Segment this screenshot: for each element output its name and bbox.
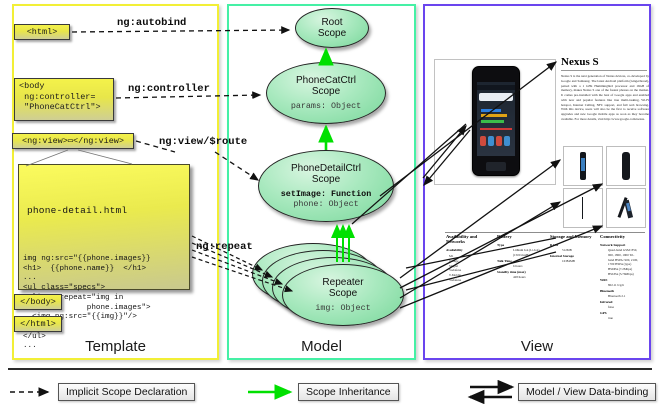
specs-header-availability: Availability and Networks — [446, 234, 486, 244]
legend-label-inheritance: Scope Inheritance — [298, 383, 399, 401]
column-label-model: Model — [229, 338, 414, 355]
thumbnail-1[interactable] — [563, 146, 603, 186]
specs-values-network: Quad-band GSM: 850,900, 1800, 1900 Tri-b… — [608, 248, 638, 277]
view-body-text: Nexus S is the next generation of Nexus … — [561, 74, 649, 132]
specs-top-rule — [445, 232, 645, 233]
connector-label-controller: ng:controller — [128, 83, 210, 95]
legend: Implicit Scope Declaration Scope Inherit… — [0, 366, 660, 420]
specs-values-storage-ram: 512MB — [562, 248, 572, 252]
specs-label-network: Network Support — [600, 243, 625, 247]
scope-root: Root Scope — [295, 8, 369, 48]
specs-values-battery-type: Lithium Ion (Li-Ion)(1500 mAH) — [513, 248, 539, 258]
connector-label-view-route: ng:view/$route — [159, 136, 247, 148]
specs-values-infrared: false — [608, 305, 614, 309]
specs-label-bluetooth: Bluetooth — [600, 289, 614, 293]
view-title-rule — [561, 70, 647, 71]
specs-label-battery-standby: Standby time (max) — [497, 270, 526, 274]
scope-root-name-line1: Root — [321, 17, 342, 28]
connector-label-repeat: ng:repeat — [196, 241, 253, 253]
scope-phonedetailctrl-prop-setimage: setImage: Function — [281, 189, 371, 199]
legend-label-implicit: Implicit Scope Declaration — [58, 383, 195, 401]
thumbnail-3[interactable] — [563, 188, 603, 228]
specs-header-storage: Storage and Memory — [550, 234, 592, 239]
scope-repeater: Repeater Scope img: Object — [282, 264, 404, 326]
scope-repeater-prop-img: img: Object — [315, 303, 370, 313]
view-page-title: Nexus S — [561, 56, 599, 68]
specs-label-storage-internal: Internal Storage — [550, 254, 574, 258]
tag-body-open: <body ng:controller= "PhoneCatCtrl"> — [14, 78, 114, 121]
thumbnail-2[interactable] — [606, 146, 646, 186]
legend-label-databinding: Model / View Data-binding — [518, 383, 656, 401]
specs-values-battery-talktime: 6 hours — [513, 264, 522, 268]
phone-hero-image — [472, 66, 520, 176]
scope-phonecatctrl-prop-params: params: Object — [291, 101, 361, 111]
phone-screen — [477, 82, 516, 155]
scope-repeater-name-line2: Scope — [329, 288, 357, 299]
tag-html-open: <html> — [14, 24, 70, 40]
scope-phonedetailctrl-prop-phone: phone: Object — [293, 199, 358, 209]
specs-label-gps: GPS — [600, 311, 607, 315]
specs-values-wifi: 802.11 b/g/n — [608, 283, 624, 287]
scope-repeater-name-line1: Repeater — [322, 277, 363, 288]
specs-label-battery-talktime: Talk Time — [497, 259, 512, 263]
specs-values-storage-internal: 16384MB — [562, 259, 575, 263]
specs-values-availability: M1OrangeSingtelVodafoneT-MobileVodafone — [449, 254, 461, 283]
specs-values-bluetooth: Bluetooth 2.1 — [608, 294, 625, 298]
specs-label-battery-type: Type — [497, 243, 504, 247]
specs-header-battery: Battery — [497, 234, 512, 239]
column-label-view: View — [425, 338, 649, 355]
diagram-canvas: Template Model View <html> <body ng:cont… — [0, 0, 660, 420]
connector-label-autobind: ng:autobind — [117, 17, 186, 29]
tag-ngview: <ng:view>▭</ng:view> — [12, 133, 134, 149]
specs-label-infrared: Infrared — [600, 300, 612, 304]
note-phone-detail-html: phone-detail.html img ng:src="{{phone.im… — [18, 164, 190, 290]
scope-phonedetailctrl-name-line1: PhoneDetailCtrl — [291, 163, 361, 174]
tag-body-close: </body> — [14, 294, 62, 310]
scope-phonedetailctrl-name-line2: Scope — [312, 174, 340, 185]
specs-values-battery-standby: 428 hours — [513, 275, 526, 279]
scope-phonedetailctrl: PhoneDetailCtrl Scope setImage: Function… — [258, 150, 394, 222]
specs-values-gps: true — [608, 316, 613, 320]
scope-phonecatctrl: PhoneCatCtrl Scope params: Object — [266, 62, 386, 124]
note-title: phone-detail.html — [19, 201, 189, 219]
specs-header-connectivity: Connectivity — [600, 234, 625, 239]
scope-phonecatctrl-name-line1: PhoneCatCtrl — [296, 75, 356, 86]
tag-html-close: </html> — [14, 316, 62, 332]
thumbnail-4[interactable] — [606, 188, 646, 228]
specs-label-availability: Availability — [446, 248, 463, 252]
specs-label-wifi: WiFi — [600, 278, 607, 282]
scope-root-name-line2: Scope — [318, 28, 346, 39]
specs-label-storage-ram: RAM — [550, 243, 558, 247]
scope-phonecatctrl-name-line2: Scope — [312, 86, 340, 97]
